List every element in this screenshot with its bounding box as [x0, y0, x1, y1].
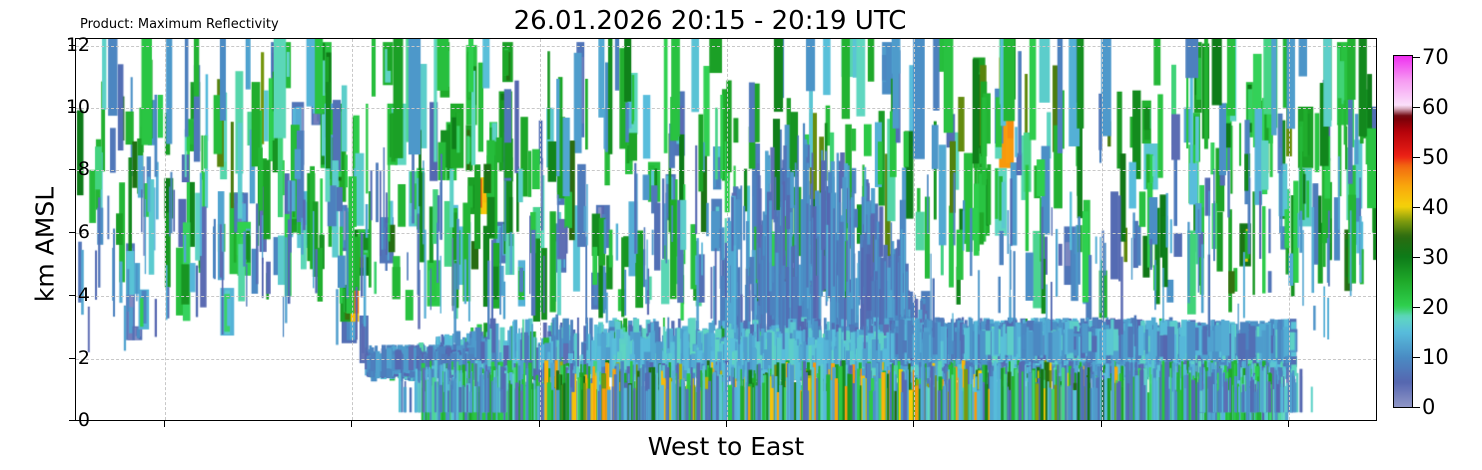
colorbar-tick-label-0: 0 [1422, 395, 1435, 419]
colorbar-tick-label-40: 40 [1422, 195, 1449, 219]
page-title: 26.01.2026 20:15 - 20:19 UTC [0, 6, 1420, 36]
colorbar-tick-mark [1413, 57, 1420, 58]
y-tick-mark [69, 169, 75, 170]
gridline-horizontal [76, 233, 1376, 234]
y-tick-mark [69, 232, 75, 233]
colorbar-tick-label-20: 20 [1422, 295, 1449, 319]
y-tick-label-10: 10 [66, 96, 90, 118]
colorbar-tick-label-30: 30 [1422, 245, 1449, 269]
gridline-horizontal [76, 108, 1376, 109]
colorbar-tick-mark [1413, 307, 1420, 308]
gridline-horizontal [76, 170, 1376, 171]
x-tick-mark [539, 421, 540, 427]
y-tick-label-2: 2 [78, 347, 90, 369]
reflectivity-heatmap-canvas [76, 39, 1376, 420]
gridline-vertical [914, 39, 915, 420]
gridline-vertical [1102, 39, 1103, 420]
gridline-vertical [727, 39, 728, 420]
y-tick-label-0: 0 [78, 409, 90, 431]
y-tick-label-8: 8 [78, 158, 90, 180]
x-tick-mark [1288, 421, 1289, 427]
y-tick-mark [69, 358, 75, 359]
x-tick-mark [164, 421, 165, 427]
y-tick-mark [69, 420, 75, 421]
colorbar-tick-label-10: 10 [1422, 345, 1449, 369]
radar-cross-section-figure: Product: Maximum Reflectivity 26.01.2026… [0, 0, 1482, 470]
colorbar-tick-mark [1413, 157, 1420, 158]
gridline-vertical [352, 39, 353, 420]
colorbar-tick-mark [1413, 207, 1420, 208]
x-tick-mark [1101, 421, 1102, 427]
gridline-horizontal [76, 359, 1376, 360]
colorbar: 706050403020100 [1393, 55, 1413, 408]
colorbar-tick-label-60: 60 [1422, 95, 1449, 119]
x-tick-mark [351, 421, 352, 427]
y-tick-label-6: 6 [78, 221, 90, 243]
y-tick-label-12: 12 [66, 34, 90, 56]
colorbar-tick-label-50: 50 [1422, 145, 1449, 169]
gridline-horizontal [76, 296, 1376, 297]
colorbar-tick-label-70: 70 [1422, 45, 1449, 69]
x-tick-mark [726, 421, 727, 427]
plot-area [75, 38, 1377, 421]
colorbar-gradient [1393, 55, 1413, 408]
gridline-vertical [165, 39, 166, 420]
x-tick-mark [913, 421, 914, 427]
gridline-vertical [1289, 39, 1290, 420]
gridline-vertical [540, 39, 541, 420]
colorbar-tick-mark [1413, 357, 1420, 358]
gridline-horizontal [76, 46, 1376, 47]
y-axis-label: km AMSL [31, 145, 60, 345]
y-tick-label-4: 4 [78, 284, 90, 306]
y-tick-mark [69, 295, 75, 296]
x-axis-label: West to East [75, 432, 1377, 461]
colorbar-tick-mark [1413, 257, 1420, 258]
colorbar-tick-mark [1413, 107, 1420, 108]
colorbar-tick-mark [1413, 407, 1420, 408]
